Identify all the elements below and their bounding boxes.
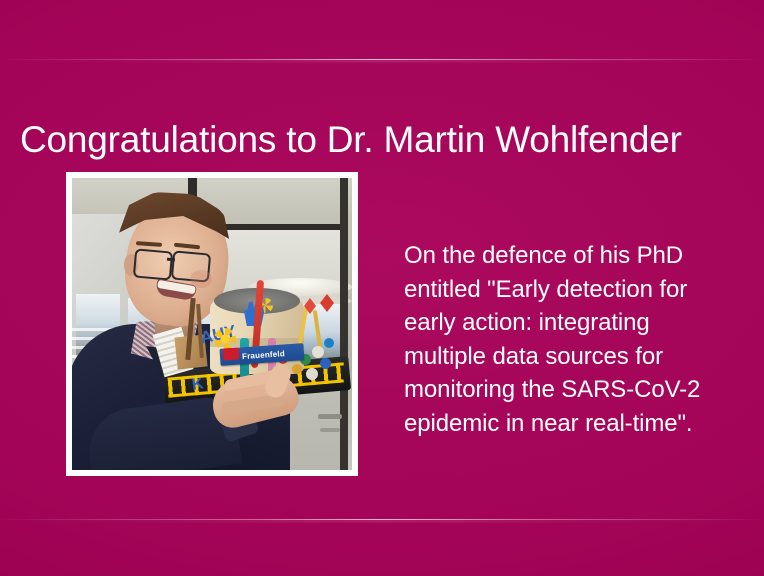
hat-pompom-gold — [292, 364, 302, 374]
photo-graduate: AUY Frauenfeld K — [72, 178, 352, 470]
frame-vertical-right — [340, 178, 348, 470]
door-handle — [318, 414, 342, 419]
page-title: Congratulations to Dr. Martin Wohlfender — [20, 117, 750, 163]
congratulations-slide: Congratulations to Dr. Martin Wohlfender — [0, 0, 764, 576]
divider-top-line — [0, 59, 764, 60]
divider-top-glow — [0, 60, 764, 62]
photo-frame: AUY Frauenfeld K — [66, 172, 358, 476]
hat-letter-k: K — [191, 375, 205, 394]
station-sign-badge — [223, 347, 240, 360]
divider-top — [0, 59, 764, 61]
divider-bottom-glow — [0, 520, 764, 522]
divider-bottom-line — [0, 519, 764, 520]
hat-pompom-cyan — [324, 338, 334, 348]
glasses-lens-left — [133, 248, 173, 280]
divider-bottom — [0, 519, 764, 521]
hat-pompom-blue — [320, 358, 331, 369]
door-handle-secondary — [320, 428, 340, 432]
hat-pompom-cream — [306, 368, 318, 380]
hat-flower-yellow-large — [214, 328, 236, 350]
body-paragraph: On the defence of his PhD entitled "Earl… — [404, 239, 734, 440]
hat-pompom-white — [312, 346, 324, 358]
